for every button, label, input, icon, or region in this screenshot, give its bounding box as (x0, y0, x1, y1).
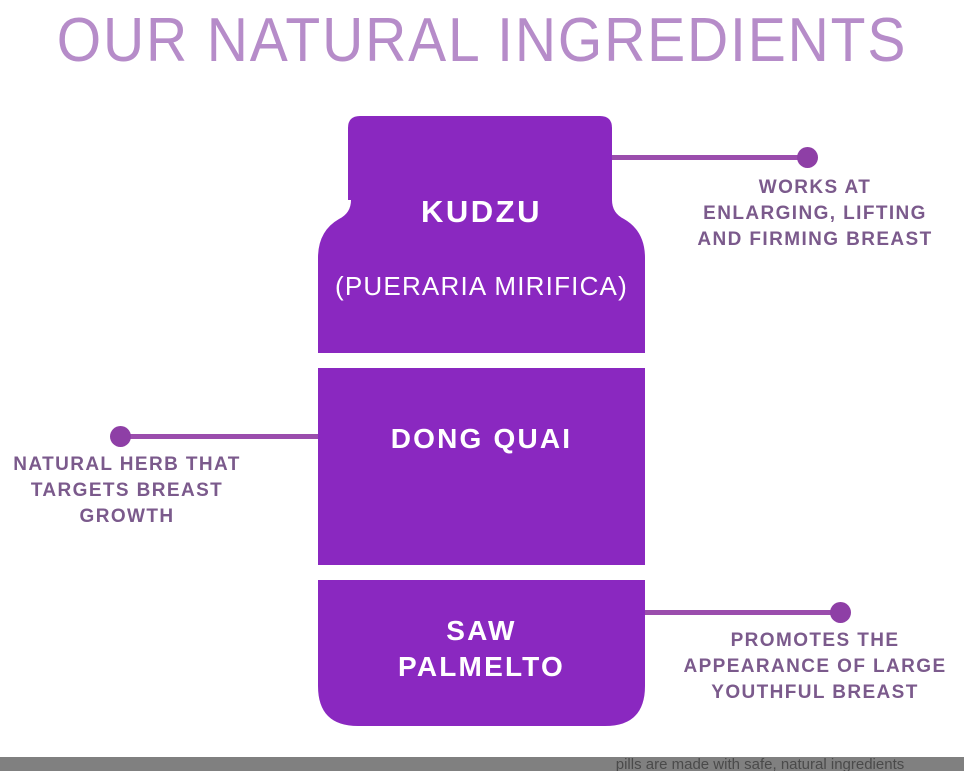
connector-dot-bottom-right (830, 602, 851, 623)
connector-line-bottom-right (645, 610, 837, 615)
connector-dot-left (110, 426, 131, 447)
connector-top-right (612, 150, 832, 172)
callout-text-saw-palmetto: PROMOTES THE APPEARANCE OF LARGE YOUTHFU… (666, 628, 964, 706)
connector-line-left (126, 434, 318, 439)
bottle-cap-shape (348, 116, 612, 175)
infographic-canvas: OUR NATURAL INGREDIENTS KUDZU (PUERARIA … (0, 0, 964, 771)
ingredient-label-kudzu: KUDZU (318, 194, 645, 230)
callout-text-kudzu: WORKS AT ENLARGING, LIFTING AND FIRMING … (666, 175, 964, 253)
connector-bottom-right (645, 605, 865, 627)
connector-line-top-right (612, 155, 804, 160)
page-title: OUR NATURAL INGREDIENTS (39, 6, 926, 76)
footer-caption: pills are made with safe, natural ingred… (556, 757, 964, 771)
ingredient-label-dong-quai: DONG QUAI (318, 422, 645, 456)
connector-dot-top-right (797, 147, 818, 168)
bottle-middle-band-shape (318, 368, 645, 565)
connector-left (110, 429, 325, 451)
ingredient-latin-name-kudzu: (PUERARIA MIRIFICA) (318, 270, 645, 302)
callout-text-dong-quai: NATURAL HERB THAT TARGETS BREAST GROWTH (0, 452, 254, 530)
ingredient-label-saw-palmetto: SAW PALMELTO (318, 613, 645, 685)
